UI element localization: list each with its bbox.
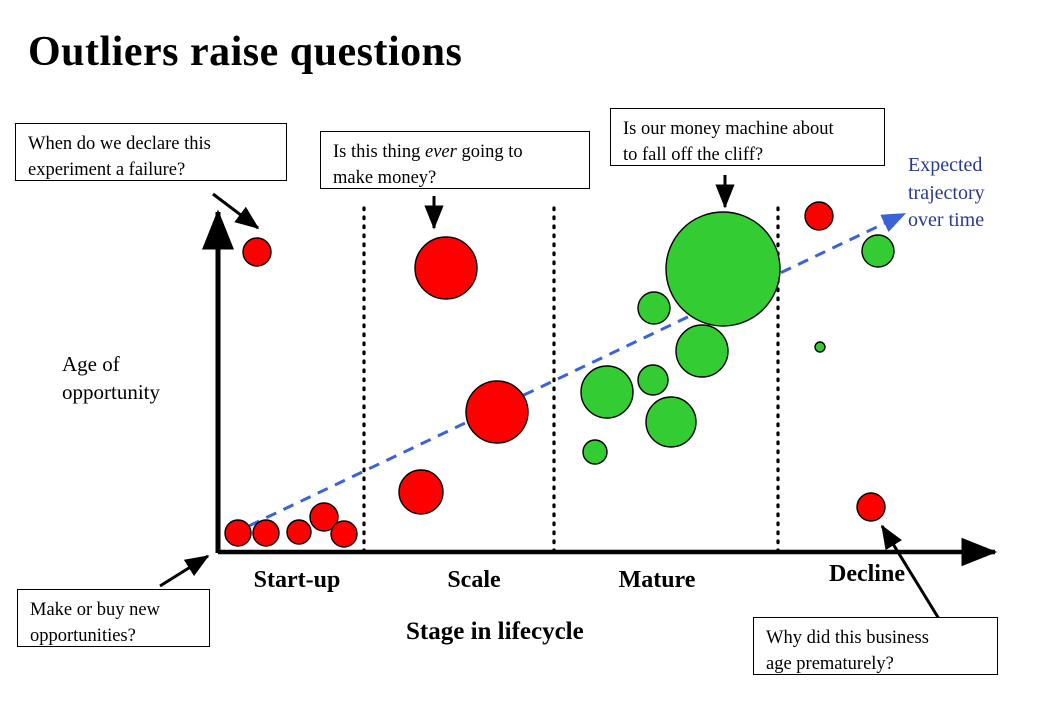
stage-label-decline: Decline (787, 561, 947, 588)
callout-premature-line2: age prematurely? (766, 654, 894, 674)
callout-money-line1-post: going to (457, 142, 523, 162)
callout-make-buy-line2: opportunities? (30, 626, 136, 646)
callout-money-emphasis: ever (425, 142, 457, 162)
bubble-scale-outlier (415, 237, 477, 299)
callout-premature[interactable]: Why did this business age prematurely? (753, 617, 998, 675)
expected-trajectory-label: Expected trajectory over time (908, 152, 985, 235)
callout-money-line1-pre: Is this thing (333, 142, 425, 162)
bubble-decline-green-small (815, 342, 825, 352)
bubble-scale-2 (466, 381, 528, 443)
bubble-startup-3 (287, 520, 311, 544)
bubble-decline-red-high (805, 202, 833, 230)
bubble-mature-7 (583, 440, 607, 464)
y-axis-label: Age of opportunity (62, 350, 160, 407)
bubble-startup-outlier (243, 238, 271, 266)
bubble-startup-4 (310, 503, 338, 531)
page-title: Outliers raise questions (28, 28, 462, 76)
bubble-scale-3 (399, 470, 443, 514)
bubble-mature-money-machine (666, 212, 780, 326)
expected-trajectory-line (232, 215, 902, 534)
y-axis-label-line2: opportunity (62, 380, 160, 404)
bubble-startup-2 (253, 520, 279, 546)
callout-make-buy-line1: Make or buy new (30, 600, 160, 620)
callout-cliff-line2: to fall off the cliff? (623, 145, 763, 165)
callout-make-buy[interactable]: Make or buy new opportunities? (17, 589, 210, 647)
callout-premature-line1: Why did this business (766, 628, 929, 648)
trajectory-label-line3: over time (908, 209, 984, 231)
stage-label-startup: Start-up (217, 567, 377, 594)
callout-money[interactable]: Is this thing ever going to make money? (320, 131, 590, 189)
trajectory-label-line1: Expected (908, 154, 982, 176)
y-axis-label-line1: Age of (62, 352, 120, 376)
callout-failure[interactable]: When do we declare this experiment a fai… (15, 123, 287, 181)
bubble-mature-2 (638, 292, 670, 324)
bubble-mature-5 (638, 365, 668, 395)
stage-label-scale: Scale (394, 567, 554, 594)
trajectory-label-line2: trajectory (908, 182, 985, 204)
bubble-startup-5 (331, 521, 357, 547)
bubble-startup-1 (225, 520, 251, 546)
slide-canvas: Outliers raise questions (0, 0, 1040, 720)
bubble-group (225, 202, 894, 547)
leader-arrow-failure (213, 194, 258, 228)
bubble-mature-3 (676, 325, 728, 377)
bubble-mature-4 (581, 366, 633, 418)
callout-failure-line1: When do we declare this (28, 134, 211, 154)
leader-arrow-make-buy (160, 556, 208, 586)
stage-label-mature: Mature (577, 567, 737, 594)
bubble-decline-premature (857, 493, 885, 521)
callout-failure-line2: experiment a failure? (28, 160, 185, 180)
x-axis-title: Stage in lifecycle (406, 618, 584, 646)
callout-money-line2: make money? (333, 168, 436, 188)
callout-cliff[interactable]: Is our money machine about to fall off t… (610, 108, 885, 166)
callout-cliff-line1: Is our money machine about (623, 119, 834, 139)
bubble-decline-green-1 (862, 235, 894, 267)
bubble-mature-6 (646, 397, 696, 447)
